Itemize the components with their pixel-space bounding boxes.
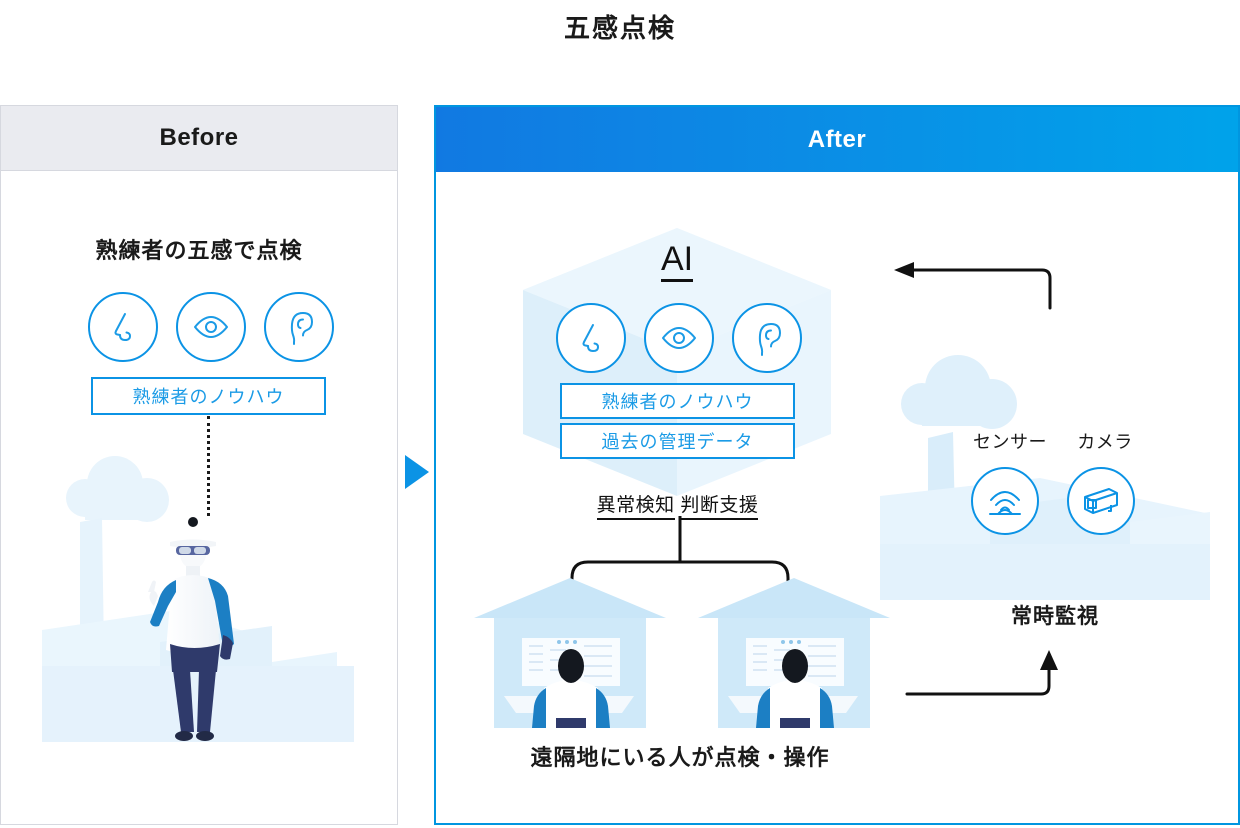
camera-icon	[1067, 467, 1135, 535]
constant-monitoring-caption: 常時監視	[950, 600, 1160, 630]
remote-control-rooms-illustration	[474, 578, 890, 728]
ai-label: AI	[523, 240, 831, 279]
after-data-box: 過去の管理データ	[560, 423, 795, 459]
remote-operation-caption: 遠隔地にいる人が点検・操作	[460, 740, 900, 772]
eye-icon	[176, 292, 246, 362]
page-title: 五感点検	[0, 8, 1240, 45]
before-caption: 熟練者の五感で点検	[0, 233, 398, 265]
before-after-transition-arrow	[405, 455, 429, 489]
after-panel-header: After	[436, 107, 1238, 172]
nose-icon	[556, 303, 626, 373]
eye-icon	[644, 303, 714, 373]
nose-icon	[88, 292, 158, 362]
detect-support-label: 異常検知 判断支援	[540, 490, 815, 517]
before-panel-header: Before	[1, 106, 397, 171]
ear-icon	[264, 292, 334, 362]
after-sense-icons	[556, 303, 802, 373]
before-sense-icons	[88, 292, 334, 362]
before-knowhow-box: 熟練者のノウハウ	[91, 377, 326, 415]
after-knowhow-box: 熟練者のノウハウ	[560, 383, 795, 419]
ear-icon	[732, 303, 802, 373]
sensor-label: センサー	[955, 428, 1065, 454]
camera-label: カメラ	[1055, 428, 1155, 454]
before-worker-illustration	[42, 430, 354, 752]
sensor-icon	[971, 467, 1039, 535]
diagram-root: 五感点検 Before 熟練者の五感で点検 熟練者のノウハウ	[0, 0, 1240, 828]
data-flow-arrow-left	[890, 262, 1070, 312]
data-flow-arrow-up	[905, 648, 1075, 704]
